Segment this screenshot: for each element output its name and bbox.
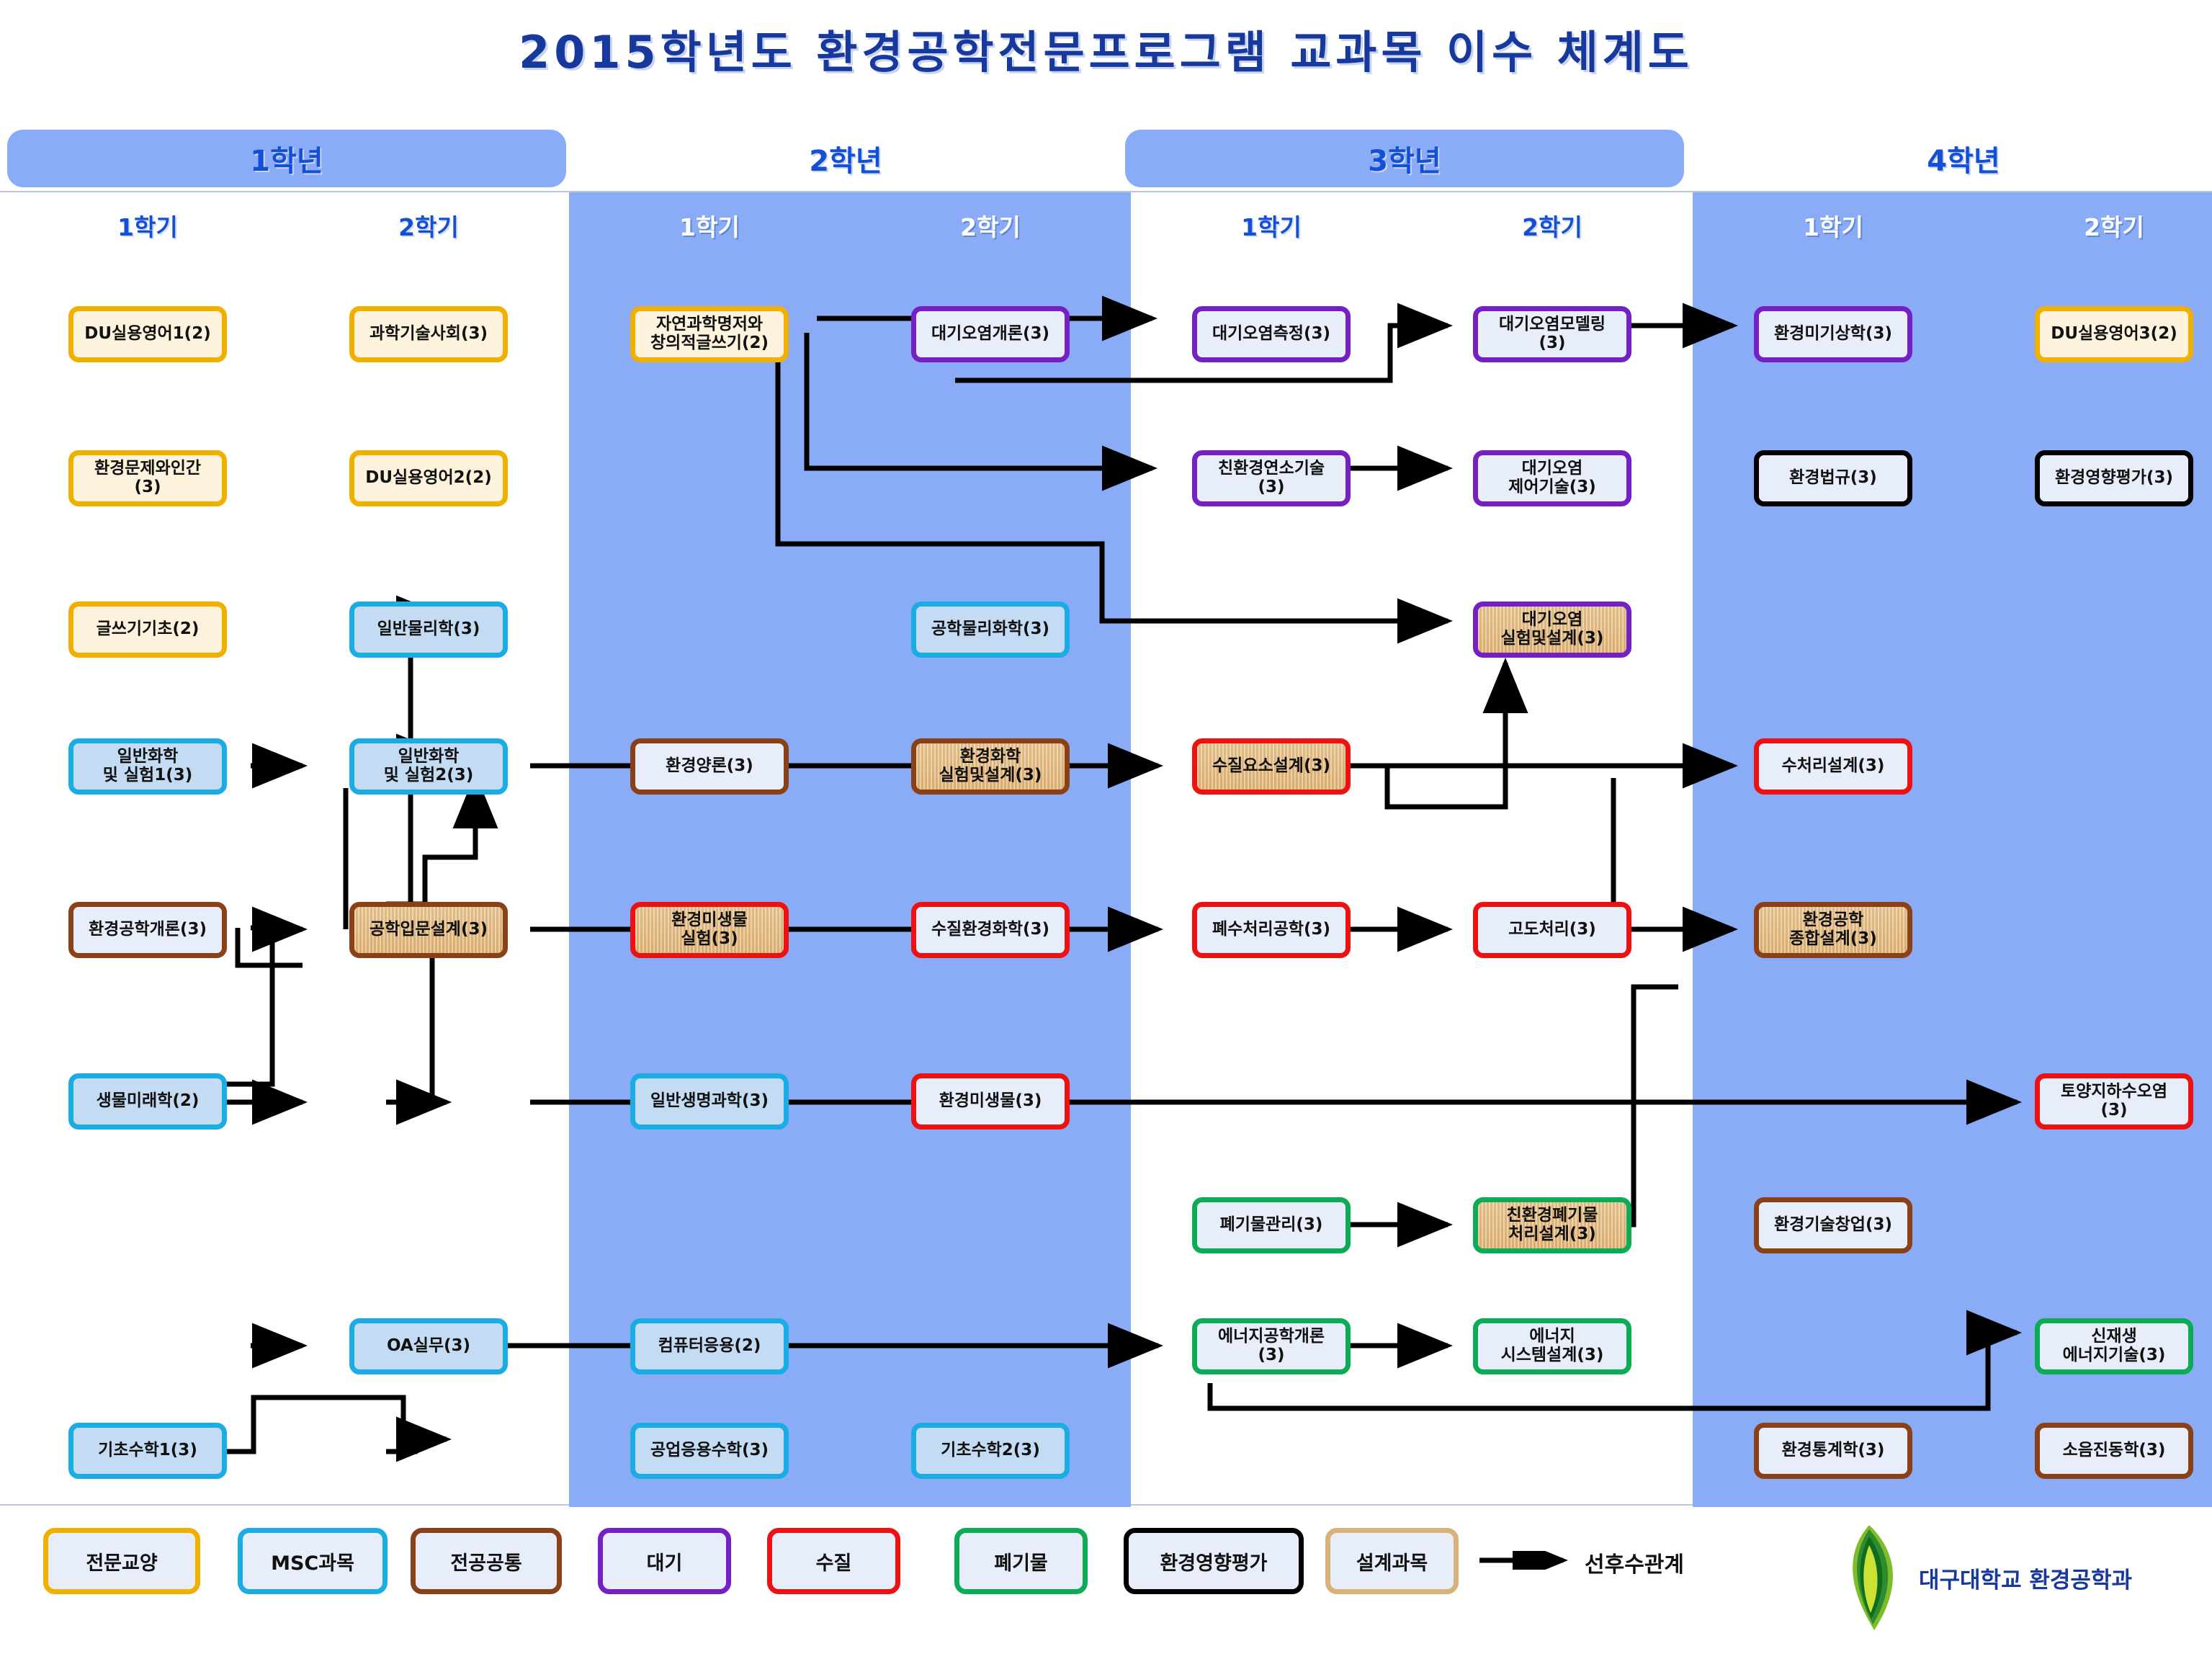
- course-label-line: 일반생명과학(3): [650, 1092, 769, 1111]
- semester-header-3: 1학기: [569, 208, 850, 243]
- course-label-line: 폐수처리공학(3): [1212, 921, 1330, 939]
- course-node-sinjaesaeng[interactable]: 신재생에너지기술(3): [2035, 1318, 2193, 1374]
- column-band-4: [850, 192, 1131, 1507]
- course-label-line: 글쓰기기초(2): [97, 620, 200, 639]
- course-label-line: (3): [1539, 334, 1565, 353]
- course-node-hwanin[interactable]: 환경문제와인간(3): [68, 450, 227, 506]
- course-node-ilbansaeng[interactable]: 일반생명과학(3): [630, 1073, 789, 1130]
- course-label-line: 과학기술사회(3): [370, 325, 488, 344]
- course-label-line: 환경공학: [1803, 911, 1864, 930]
- course-node-energy-gaeron[interactable]: 에너지공학개론(3): [1192, 1318, 1351, 1374]
- year-header-band: 1학년2학년3학년4학년: [0, 130, 2212, 187]
- course-label-line: 기초수학2(3): [941, 1441, 1040, 1460]
- course-label-line: 환경법규(3): [1789, 469, 1877, 488]
- course-node-yeonghyang[interactable]: 환경영향평가(3): [2035, 450, 2193, 506]
- course-label-line: 수질요소설계(3): [1212, 757, 1330, 776]
- legend-item-2: MSC과목: [238, 1528, 388, 1594]
- course-node-daegi-silseol[interactable]: 대기오염실험및설계(3): [1473, 602, 1631, 658]
- course-label-line: 생물미래학(2): [97, 1092, 200, 1111]
- course-label-line: 대기오염: [1522, 611, 1583, 630]
- course-label-line: 공학입문설계(3): [370, 921, 488, 939]
- column-band-3: [569, 192, 850, 1507]
- course-node-beopgyu[interactable]: 환경법규(3): [1754, 450, 1912, 506]
- course-node-gichosu1[interactable]: 기초수학1(3): [68, 1423, 227, 1479]
- course-label-line: 일반화학: [117, 748, 179, 766]
- course-node-gwahak[interactable]: 과학기술사회(3): [349, 306, 508, 362]
- course-node-pyegimul-gwanri[interactable]: 폐기물관리(3): [1192, 1197, 1351, 1253]
- year-header-2: 2학년: [566, 130, 1125, 187]
- legend-item-4: 대기: [598, 1528, 731, 1594]
- course-label-line: 실험(3): [681, 930, 738, 949]
- course-node-pyesu[interactable]: 폐수처리공학(3): [1192, 902, 1351, 958]
- course-node-oa[interactable]: OA실무(3): [349, 1318, 508, 1374]
- course-node-du2[interactable]: DU실용영어2(2): [349, 450, 508, 506]
- course-node-energy-sys[interactable]: 에너지시스템설계(3): [1473, 1318, 1631, 1374]
- semester-header-2: 2학기: [288, 208, 569, 243]
- course-node-geulsseugi[interactable]: 글쓰기기초(2): [68, 602, 227, 658]
- course-label-line: 에너지: [1529, 1328, 1575, 1346]
- course-node-daegi-modeling[interactable]: 대기오염모델링(3): [1473, 306, 1631, 362]
- course-node-daegi-jeeo[interactable]: 대기오염제어기술(3): [1473, 450, 1631, 506]
- course-label-line: 대기오염: [1522, 460, 1583, 478]
- course-label-line: OA실무(3): [387, 1337, 470, 1356]
- course-node-jonghap[interactable]: 환경공학종합설계(3): [1754, 902, 1912, 958]
- course-label-line: 대기오염모델링: [1499, 316, 1606, 334]
- course-label-line: 환경기술창업(3): [1774, 1216, 1892, 1235]
- course-node-godo[interactable]: 고도처리(3): [1473, 902, 1631, 958]
- course-label-line: 에너지기술(3): [2063, 1346, 2166, 1365]
- course-label-line: 대기오염개론(3): [931, 325, 1049, 344]
- semester-header-8: 2학기: [1974, 208, 2212, 243]
- legend-item-3: 전공공통: [411, 1528, 562, 1594]
- course-label-line: 시스템설계(3): [1501, 1346, 1604, 1365]
- course-node-du3[interactable]: DU실용영어3(2): [2035, 306, 2193, 362]
- course-label-line: DU실용영어1(2): [84, 325, 210, 344]
- course-label-line: 일반물리학(3): [377, 620, 480, 639]
- course-label-line: 및 실험2(3): [384, 766, 474, 785]
- course-node-chin-yeonso[interactable]: 친환경연소기술(3): [1192, 450, 1351, 506]
- course-node-sujil-yoso[interactable]: 수질요소설계(3): [1192, 738, 1351, 795]
- year-header-3: 3학년: [1125, 130, 1684, 187]
- course-label-line: 토양지하수오염: [2061, 1083, 2167, 1101]
- course-label-line: 실험및설계(3): [1501, 630, 1604, 648]
- course-label-line: 환경미생물: [671, 911, 748, 930]
- course-node-hwangyang[interactable]: 환경양론(3): [630, 738, 789, 795]
- course-label-line: 친환경연소기술: [1218, 460, 1325, 478]
- course-label-line: (3): [1258, 478, 1284, 497]
- course-label-line: 자연과학명저와: [656, 316, 763, 334]
- course-label-line: 공학물리화학(3): [931, 620, 1049, 639]
- semester-header-5: 1학기: [1131, 208, 1412, 243]
- course-label-line: 일반화학: [398, 748, 460, 766]
- course-label-line: 소음진동학(3): [2063, 1441, 2166, 1460]
- course-label-line: 수처리설계(3): [1782, 757, 1885, 776]
- course-label-line: 폐기물관리(3): [1220, 1216, 1323, 1235]
- course-node-changeop[interactable]: 환경기술창업(3): [1754, 1197, 1912, 1253]
- leaf-logo-icon: [1830, 1524, 1909, 1632]
- course-label-line: (3): [1258, 1346, 1284, 1365]
- course-label-line: 환경미기상학(3): [1774, 325, 1892, 344]
- course-node-daegi-cheukjeong[interactable]: 대기오염측정(3): [1192, 306, 1351, 362]
- course-label-line: 공업응용수학(3): [650, 1441, 769, 1460]
- course-label-line: 신재생: [2091, 1328, 2136, 1346]
- semester-header-7: 1학기: [1693, 208, 1974, 243]
- course-label-line: 수질환경화학(3): [931, 921, 1049, 939]
- university-logo: 대구대학교 환경공학과: [1830, 1524, 2132, 1632]
- semester-header-4: 2학기: [850, 208, 1131, 243]
- course-label-line: DU실용영어3(2): [2051, 325, 2177, 344]
- course-label-line: (3): [2100, 1101, 2127, 1120]
- page-title: 2015학년도 환경공학전문프로그램 교과목 이수 체계도: [0, 16, 2212, 81]
- course-node-ilbanhwa2[interactable]: 일반화학및 실험2(3): [349, 738, 508, 795]
- course-label-line: 대기오염측정(3): [1212, 325, 1330, 344]
- course-node-sujil-hwan[interactable]: 수질환경화학(3): [911, 902, 1070, 958]
- course-label-line: 종합설계(3): [1789, 930, 1877, 949]
- legend: 선후수관계 대구대학교 환경공학과 전문교양MSC과목전공공통대기수질폐기물환경…: [0, 1509, 2212, 1659]
- legend-arrow-icon: [1478, 1551, 1572, 1570]
- course-node-ilbanmul[interactable]: 일반물리학(3): [349, 602, 508, 658]
- legend-item-6: 폐기물: [954, 1528, 1088, 1594]
- course-label-line: 컴퓨터응용(2): [658, 1337, 761, 1356]
- logo-text: 대구대학교 환경공학과: [1919, 1562, 2132, 1594]
- course-label-line: 환경영향평가(3): [2055, 469, 2173, 488]
- course-label-line: 실험및설계(3): [939, 766, 1042, 785]
- course-node-gichosu2[interactable]: 기초수학2(3): [911, 1423, 1070, 1479]
- course-label-line: 제어기술(3): [1508, 478, 1596, 497]
- course-label-line: 친환경폐기물: [1507, 1207, 1598, 1225]
- course-node-gongeop[interactable]: 공업응용수학(3): [630, 1423, 789, 1479]
- course-label-line: 환경공학개론(3): [89, 921, 207, 939]
- course-label-line: 창의적글쓰기(2): [650, 334, 769, 353]
- course-node-jayeon[interactable]: 자연과학명저와창의적글쓰기(2): [630, 306, 789, 362]
- course-label-line: 및 실험1(3): [103, 766, 193, 785]
- course-node-hwanmisaeng[interactable]: 환경미생물(3): [911, 1073, 1070, 1130]
- course-node-hwanhwa-silseol[interactable]: 환경화학실험및설계(3): [911, 738, 1070, 795]
- course-label-line: 환경문제와인간: [94, 460, 201, 478]
- course-node-saengmul[interactable]: 생물미래학(2): [68, 1073, 227, 1130]
- year-header-1: 1학년: [7, 130, 566, 187]
- legend-item-1: 전문교양: [43, 1528, 200, 1594]
- year-header-4: 4학년: [1684, 130, 2212, 187]
- course-node-ilbanhwa1[interactable]: 일반화학및 실험1(3): [68, 738, 227, 795]
- course-node-daegi-gaeron[interactable]: 대기오염개론(3): [911, 306, 1070, 362]
- course-node-gonghakmul[interactable]: 공학물리화학(3): [911, 602, 1070, 658]
- course-label-line: 환경화학: [960, 748, 1021, 766]
- course-node-soeum[interactable]: 소음진동학(3): [2035, 1423, 2193, 1479]
- course-node-chin-pyegi[interactable]: 친환경폐기물처리설계(3): [1473, 1197, 1631, 1253]
- legend-item-8: 설계과목: [1325, 1528, 1459, 1594]
- legend-item-5: 수질: [767, 1528, 900, 1594]
- course-node-du1[interactable]: DU실용영어1(2): [68, 306, 227, 362]
- course-label-line: 환경통계학(3): [1782, 1441, 1885, 1460]
- legend-item-7: 환경영향평가: [1124, 1528, 1304, 1594]
- course-label-line: 고도처리(3): [1508, 921, 1596, 939]
- course-node-tonggye[interactable]: 환경통계학(3): [1754, 1423, 1912, 1479]
- course-label-line: DU실용영어2(2): [365, 469, 491, 488]
- semester-header-6: 2학기: [1412, 208, 1693, 243]
- column-band-8: [1974, 192, 2212, 1507]
- course-node-hwangyeong-gaeron[interactable]: 환경공학개론(3): [68, 902, 227, 958]
- course-node-mi-gisang[interactable]: 환경미기상학(3): [1754, 306, 1912, 362]
- course-label-line: 처리설계(3): [1508, 1225, 1596, 1244]
- course-node-toyang[interactable]: 토양지하수오염(3): [2035, 1073, 2193, 1130]
- curriculum-grid: 1학기2학기1학기2학기1학기2학기1학기2학기: [0, 191, 2212, 1506]
- course-node-hwanmisaeng-silheom[interactable]: 환경미생물실험(3): [630, 902, 789, 958]
- course-label-line: (3): [134, 478, 161, 497]
- course-node-sucheori[interactable]: 수처리설계(3): [1754, 738, 1912, 795]
- course-label-line: 기초수학1(3): [98, 1441, 197, 1460]
- course-node-gonghakip[interactable]: 공학입문설계(3): [349, 902, 508, 958]
- course-node-computer[interactable]: 컴퓨터응용(2): [630, 1318, 789, 1374]
- semester-header-1: 1학기: [7, 208, 288, 243]
- column-band-7: [1693, 192, 1974, 1507]
- course-label-line: 에너지공학개론: [1218, 1328, 1325, 1346]
- legend-arrow-label: 선후수관계: [1585, 1547, 1684, 1578]
- course-label-line: 환경양론(3): [666, 757, 753, 776]
- course-label-line: 환경미생물(3): [939, 1092, 1042, 1111]
